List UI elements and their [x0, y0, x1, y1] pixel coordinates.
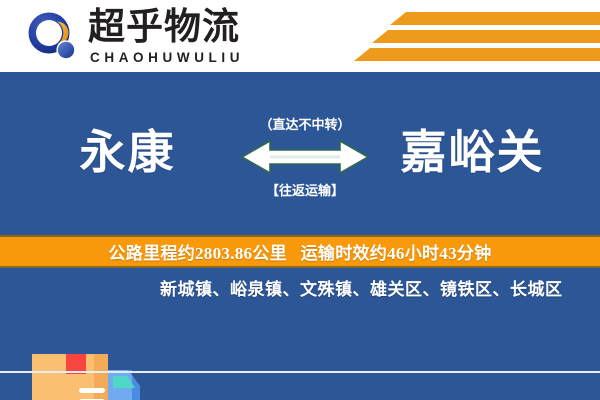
origin-city-label: 永康 — [20, 116, 235, 182]
roundtrip-shipping-note: 【往返运输】 — [240, 180, 370, 199]
coverage-districts-text: 新城镇、峪泉镇、文殊镇、雄关区、镜铁区、长城区 — [160, 275, 590, 300]
route-arrow-group: （直达不中转） 【往返运输】 — [240, 114, 370, 208]
direct-shipping-note: （直达不中转） — [240, 114, 370, 133]
delivery-truck-icon — [28, 350, 148, 400]
bottom-divider — [0, 371, 600, 373]
logistics-route-banner: 超乎物流 CHAOHUWULIU 永康 （直达不中转） 【往返运输】 嘉峪关 — [0, 0, 600, 400]
banner-header: 超乎物流 CHAOHUWULIU — [0, 0, 600, 72]
distance-duration-band: 公路里程约2803.86公里 运输时效约46小时43分钟 — [0, 235, 600, 268]
route-row: 永康 （直达不中转） 【往返运输】 嘉峪关 — [0, 72, 600, 236]
double-headed-horizontal-arrow-icon — [240, 136, 370, 183]
banner-body: 永康 （直达不中转） 【往返运输】 嘉峪关 公路里程约2803.86公里 运输时… — [0, 72, 600, 400]
circle-crescent-logo-icon — [26, 11, 80, 63]
brand-name-pinyin: CHAOHUWULIU — [90, 50, 244, 65]
header-stripe-2 — [372, 30, 600, 43]
brand-name-chinese: 超乎物流 — [88, 8, 240, 48]
destination-city-label: 嘉峪关 — [360, 116, 585, 182]
header-stripe-3 — [354, 48, 600, 61]
header-stripe-1 — [390, 12, 600, 25]
distance-duration-text: 公路里程约2803.86公里 运输时效约46小时43分钟 — [109, 239, 492, 264]
